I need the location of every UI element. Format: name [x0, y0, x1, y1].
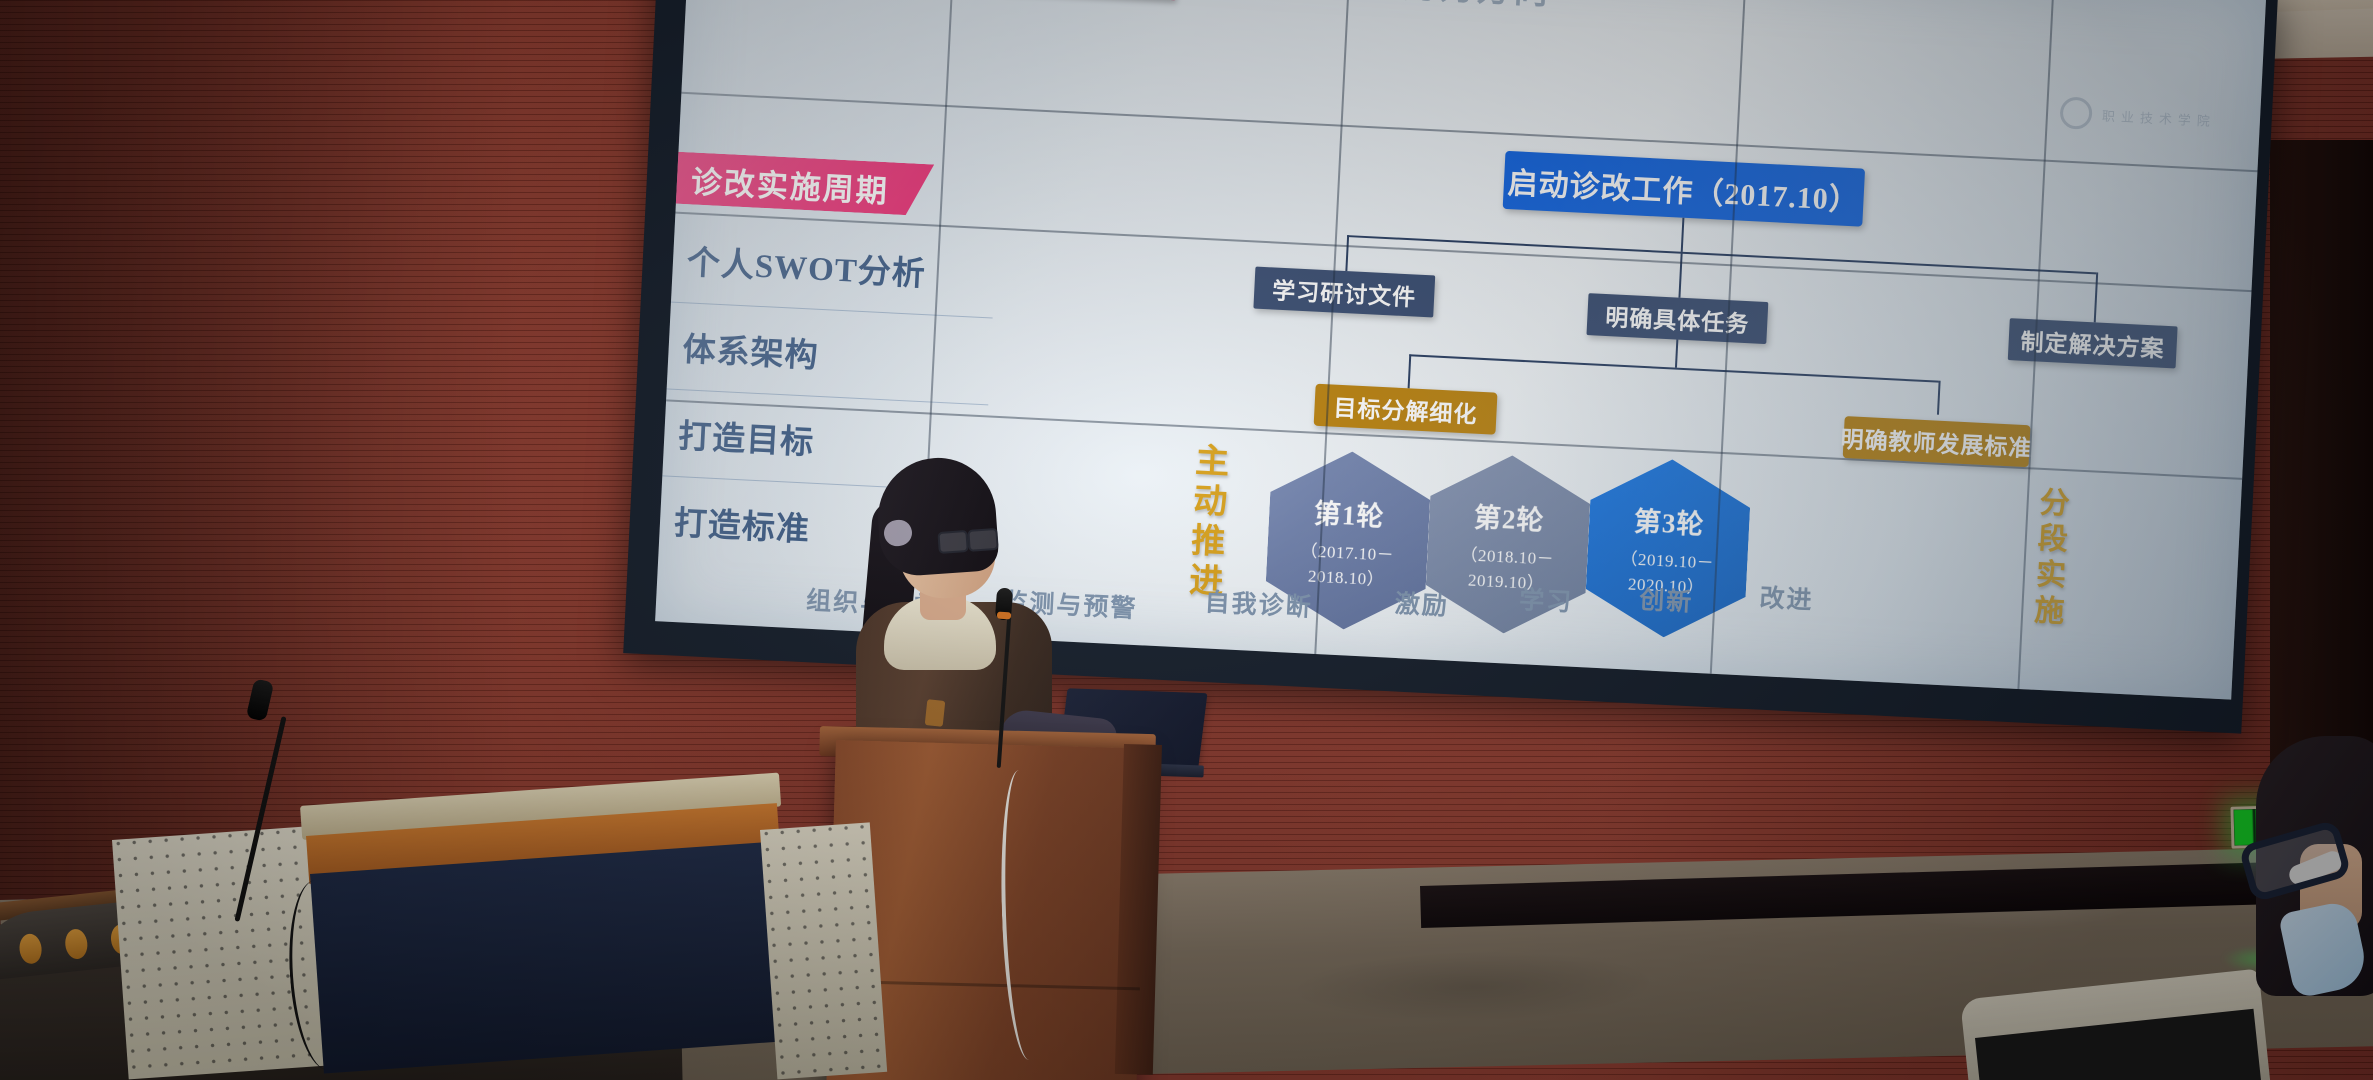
conference-room-photo: 基本情况 | 自我诊改 | 诊改成效 | 努力方向 职业技术学院 诊改实施周期 … — [0, 0, 2373, 1080]
hex-round-2-title: 第2轮 — [1473, 495, 1545, 537]
connector-level2-bus — [1347, 235, 2096, 274]
flow-root-node: 启动诊改工作（2017.10） — [1503, 151, 1865, 227]
institution-logo: 职业技术学院 — [2059, 96, 2216, 136]
sidebar-item-swot[interactable]: 个人SWOT分析 — [663, 215, 997, 317]
label-staged-implementation: 分段实施 — [2022, 485, 2073, 631]
logo-mark-icon — [2059, 96, 2093, 130]
connector-to-node-3 — [2094, 272, 2098, 322]
logo-text: 职业技术学院 — [2102, 105, 2217, 130]
screen-bezel-h1 — [681, 92, 2257, 172]
desk-front-panel — [310, 841, 789, 1073]
connector-to-gold-1 — [1408, 354, 1412, 388]
connector-to-node-2 — [1678, 252, 1682, 298]
connector-to-gold-2 — [1937, 381, 1941, 415]
podium-microphone-ring — [997, 612, 1011, 620]
cycle-word-incentive: 激励 — [1394, 584, 1450, 623]
sidebar-banner: 诊改实施周期 — [668, 151, 934, 216]
sidebar-item-architecture[interactable]: 体系架构 — [659, 301, 993, 404]
connector-level3-bus — [1409, 354, 1938, 382]
desk-right-speaker-panel — [760, 822, 887, 1079]
tab-direction[interactable]: 努力方向 — [1402, 0, 1552, 13]
cycle-word-improvement: 改进 — [1759, 578, 1815, 617]
cycle-word-self-diagnosis: 自我诊断 — [1204, 582, 1314, 623]
slide-section-tabs: 基本情况 | 自我诊改 | 诊改成效 | 努力方向 — [815, 0, 1552, 19]
flow-node-study-documents: 学习研讨文件 — [1253, 267, 1435, 318]
connector-root-down — [1681, 218, 1685, 252]
flow-node-goal-breakdown: 目标分解细化 — [1314, 384, 1498, 435]
cycle-word-innovation: 创新 — [1639, 580, 1695, 619]
connector-level2-down — [1675, 340, 1678, 368]
flow-node-clarify-tasks: 明确具体任务 — [1586, 293, 1768, 344]
tab-results[interactable]: 诊改成效 — [1214, 0, 1364, 4]
hex-round-3-title: 第3轮 — [1633, 499, 1705, 541]
cycle-word-learning: 学习 — [1518, 580, 1574, 619]
speaker-badge — [925, 699, 946, 727]
speaker-glasses-icon — [937, 528, 996, 552]
connector-to-node-1 — [1345, 235, 1349, 271]
